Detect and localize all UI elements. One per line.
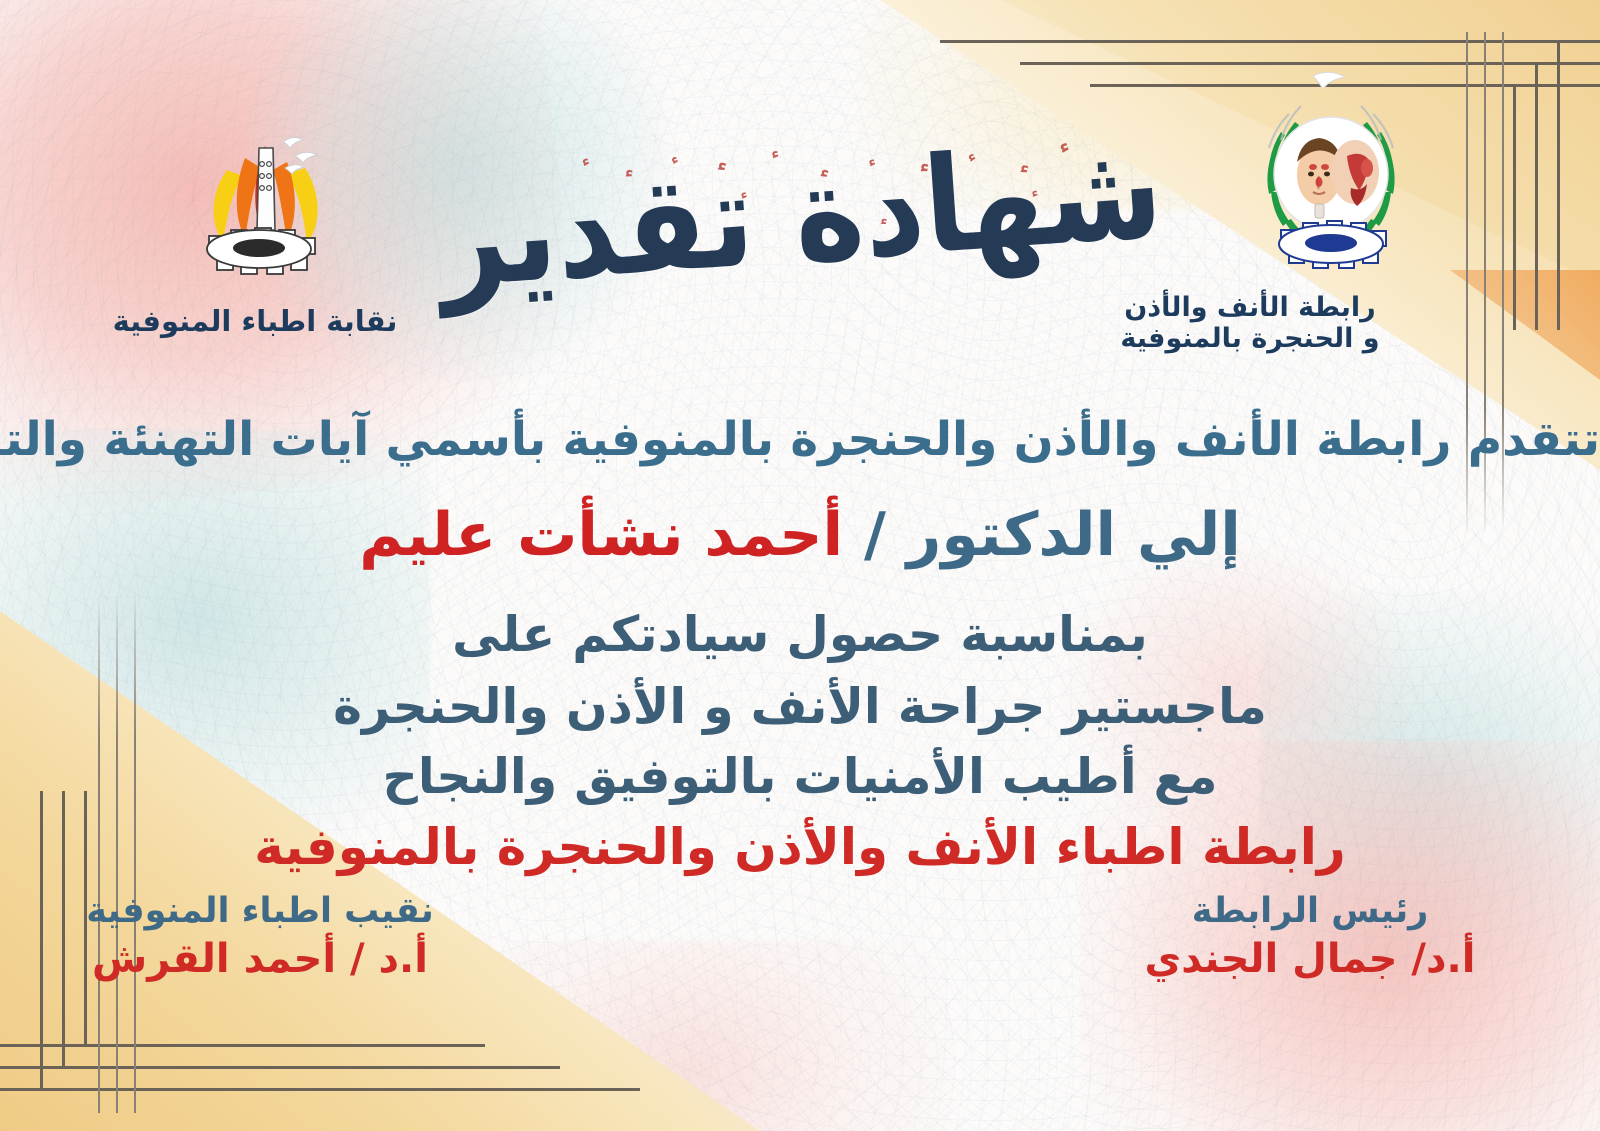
signature-block-syndicate-head: نقيب اطباء المنوفية أ.د / أحمد القرش bbox=[60, 890, 460, 984]
syndicate-head-role: نقيب اطباء المنوفية bbox=[60, 890, 460, 934]
syndicate-logo bbox=[165, 118, 345, 283]
ent-caption-line-1: رابطة الأنف والأذن bbox=[1085, 292, 1415, 323]
body-line-occasion: بمناسبة حصول سيادتكم على bbox=[0, 606, 1600, 663]
recipient-name: أحمد نشأت عليم bbox=[359, 500, 843, 570]
certificate-title: ٔ ٕ ٔ ٕ ٔ ٕ ٔ ٕ ٔ ٕ ٔ ٔ ٕ ٔ شهادة تقدير bbox=[510, 120, 1090, 310]
syndicate-logo-caption: نقابة اطباء المنوفية bbox=[60, 305, 450, 338]
ent-association-logo-caption: رابطة الأنف والأذن و الحنجرة بالمنوفية bbox=[1085, 292, 1415, 354]
recipient-prefix: إلي الدكتور / bbox=[864, 500, 1241, 570]
ent-caption-line-2: و الحنجرة بالمنوفية bbox=[1085, 323, 1415, 354]
president-name: أ.د/ جمال الجندي bbox=[1100, 934, 1520, 984]
recipient-line: إلي الدكتور / أحمد نشأت عليم bbox=[0, 500, 1600, 570]
title-text: شهادة تقدير bbox=[433, 113, 1167, 318]
body-line-wishes: مع أطيب الأمنيات بالتوفيق والنجاح bbox=[0, 748, 1600, 805]
ent-association-logo bbox=[1235, 70, 1425, 285]
body-line-degree: ماجستير جراحة الأنف و الأذن والحنجرة bbox=[0, 678, 1600, 735]
certificate-canvas: نقابة اطباء المنوفية bbox=[0, 0, 1600, 1131]
signature-block-president: رئيس الرابطة أ.د/ جمال الجندي bbox=[1100, 890, 1520, 984]
body-line-association: رابطة اطباء الأنف والأذن والحنجرة بالمنو… bbox=[0, 818, 1600, 876]
body-line-congratulation: تتقدم رابطة الأنف والأذن والحنجرة بالمنو… bbox=[0, 412, 1600, 467]
president-role: رئيس الرابطة bbox=[1100, 890, 1520, 934]
syndicate-head-name: أ.د / أحمد القرش bbox=[60, 934, 460, 984]
